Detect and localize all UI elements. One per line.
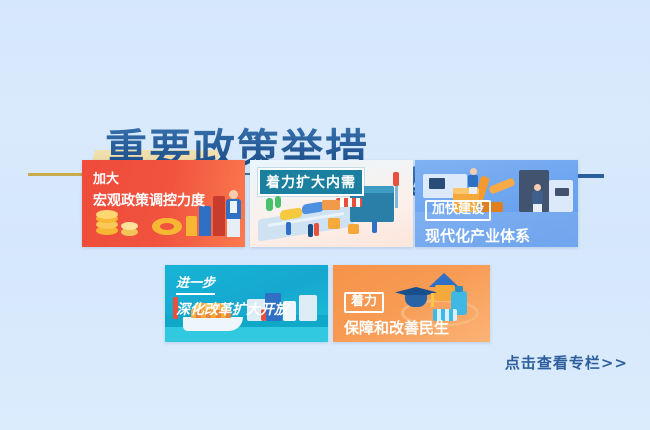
card-domestic-demand-text: 着力扩大内需	[266, 172, 356, 192]
delivery-truck	[322, 200, 340, 210]
card-peoples-livelihood-line1: 着力	[344, 292, 449, 313]
press-slot	[555, 188, 569, 196]
chart-bar-1	[186, 216, 197, 236]
worker-figure-2	[531, 184, 544, 212]
pedestrian-4	[372, 220, 377, 233]
card-reform-opening-text: 进一步 深化改革扩大开放	[176, 272, 288, 319]
view-column-link[interactable]: 点击查看专栏>>	[505, 352, 628, 373]
tree-icon-2	[275, 196, 281, 208]
card-macro-policy[interactable]: 加大 宏观政策调控力度	[82, 160, 245, 247]
coin-stack-small-icon	[121, 220, 138, 236]
card-peoples-livelihood-line2: 保障和改善民生	[344, 317, 449, 338]
policy-banner: 重要政策举措 及实施效果 加大 宏观政策调控力度	[0, 0, 650, 430]
card-peoples-livelihood-line1-boxed: 着力	[344, 292, 384, 313]
card-peoples-livelihood-text: 着力 保障和改善民生	[344, 292, 449, 338]
machine-screen	[429, 178, 445, 189]
card-reform-opening-line2: 深化改革扩大开放	[176, 299, 288, 319]
card-modern-industry[interactable]: 加快建设 现代化产业体系	[415, 160, 578, 247]
press-panel	[549, 180, 573, 212]
card-macro-policy-line2: 宏观政策调控力度	[93, 190, 205, 210]
coin-stack-icon	[96, 210, 118, 236]
card-reform-opening-line1: 进一步	[176, 272, 288, 295]
chart-bar-3	[213, 196, 225, 236]
gold-ring-icon	[152, 218, 182, 235]
card-modern-industry-line1-boxed: 加快建设	[425, 200, 491, 221]
tree-icon	[266, 198, 273, 211]
parcel-box-1	[328, 218, 340, 229]
cargo-ship-hull	[183, 317, 243, 331]
card-macro-policy-line1: 加大	[93, 168, 205, 187]
card-reform-opening-line1-underlined: 进一步	[176, 272, 215, 295]
card-domestic-demand-line2: 扩大内需	[296, 175, 356, 191]
card-domestic-demand-banner: 着力扩大内需	[258, 168, 364, 196]
card-modern-industry-line2: 现代化产业体系	[425, 225, 530, 246]
chart-bar-2	[199, 206, 211, 236]
medicine-bottle-cap	[455, 286, 463, 292]
parcel-box-2	[348, 224, 359, 234]
card-reform-opening[interactable]: 进一步 深化改革扩大开放	[165, 265, 328, 342]
card-domestic-demand[interactable]: 着力扩大内需	[250, 160, 413, 247]
robot-arm-2	[488, 177, 515, 194]
pedestrian-2	[308, 224, 313, 237]
businessman-figure	[226, 190, 242, 237]
card-domestic-demand-line1: 着力	[266, 175, 296, 191]
skyline-block-4	[299, 295, 317, 321]
card-peoples-livelihood[interactable]: 着力 保障和改善民生	[333, 265, 490, 342]
card-macro-policy-text: 加大 宏观政策调控力度	[93, 168, 205, 210]
worker-figure-1	[467, 168, 479, 194]
card-modern-industry-line1: 加快建设	[425, 200, 530, 221]
pedestrian-3	[314, 223, 319, 236]
pedestrian-5	[393, 172, 399, 186]
banner-title-block: 重要政策举措 及实施效果	[0, 56, 650, 146]
card-modern-industry-text: 加快建设 现代化产业体系	[425, 200, 530, 246]
pedestrian-1	[286, 222, 291, 235]
